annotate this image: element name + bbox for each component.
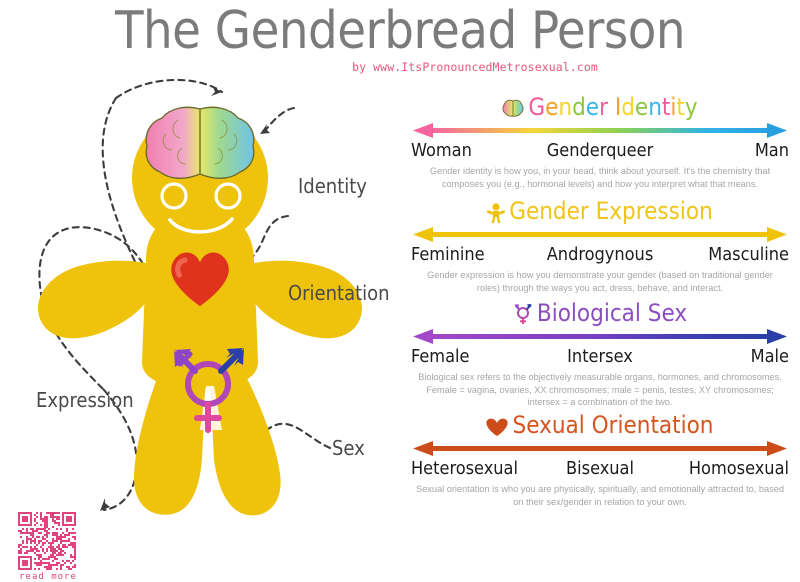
section-header-biological-sex: Biological Sex [400,298,800,328]
spectrum-axis-gender-expression [413,226,787,244]
callout-orientation: Orientation [288,281,390,305]
infographic-root: The Genderbread Person by www.ItsPronoun… [0,0,800,518]
section-biological-sex: Biological Sex Female Inter [400,298,800,409]
section-header-sexual-orientation: Sexual Orientation [400,410,800,440]
label-center: Genderqueer [411,140,789,162]
section-gender-expression: Gender Expression Feminine Androgynous M… [400,196,800,294]
section-gender-identity: Gender Identity Woma [400,92,800,190]
spectrum-labels-gender-identity: Woman Genderqueer Man [411,140,789,162]
section-sexual-orientation: Sexual Orientation Heterosexual Bisexual… [400,410,800,508]
section-title-sexual-orientation: Sexual Orientation [512,410,713,440]
callout-identity: Identity [298,174,367,198]
callout-sex: Sex [332,436,365,460]
qr-code[interactable] [18,512,76,570]
brain-icon [146,107,254,178]
section-description-biological-sex: Biological sex refers to the objectively… [415,371,785,409]
section-title-gender-identity: Gender Identity [528,92,697,122]
section-description-gender-identity: Gender identity is how you, in your head… [415,165,785,190]
arrowhead-identity [260,124,270,134]
spectrum-labels-gender-expression: Feminine Androgynous Masculine [411,244,789,266]
label-center: Intersex [411,346,789,368]
spectrum-labels-sexual-orientation: Heterosexual Bisexual Homosexual [411,458,789,480]
spectrum-labels-biological-sex: Female Intersex Male [411,346,789,368]
qr-label: read more [16,572,80,582]
section-title-biological-sex: Biological Sex [537,298,687,328]
spectrum-axis-sexual-orientation [413,440,787,458]
label-right: Man [755,140,789,162]
label-right: Male [751,346,789,368]
spectrum-panel: Gender Identity Woma [400,0,800,518]
spectrum-axis-gender-identity [413,122,787,140]
section-header-gender-identity: Gender Identity [400,92,800,122]
label-right: Masculine [708,244,789,266]
section-description-sexual-orientation: Sexual orientation is who you are physic… [415,483,785,508]
label-right: Homosexual [689,458,789,480]
spectrum-axis-biological-sex [413,328,787,346]
callout-expression: Expression [36,388,134,412]
section-description-gender-expression: Gender expression is how you demonstrate… [415,269,785,294]
genderbread-figure: Identity Orientation Expression Sex read… [0,78,400,518]
section-title-gender-expression: Gender Expression [509,196,713,226]
identity-pointer [264,108,294,132]
section-header-gender-expression: Gender Expression [400,196,800,226]
